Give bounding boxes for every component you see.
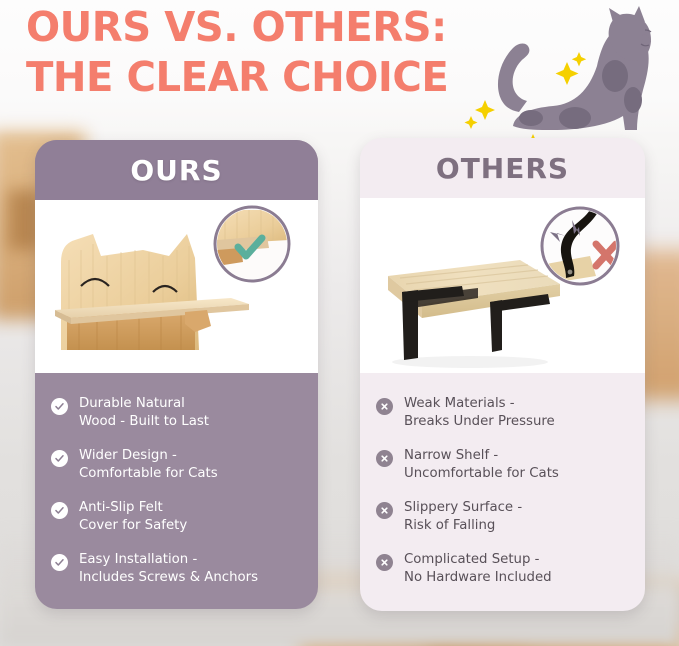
card-others-photo (360, 198, 645, 373)
list-item-text: Easy Installation - Includes Screws & An… (79, 551, 258, 586)
cross-circle-icon (376, 398, 393, 415)
list-item-text: Narrow Shelf - Uncomfortable for Cats (404, 447, 559, 482)
list-item: Narrow Shelf - Uncomfortable for Cats (376, 447, 631, 482)
check-circle-icon (51, 398, 68, 415)
card-ours-photo (35, 200, 318, 373)
list-item-text: Slippery Surface - Risk of Falling (404, 499, 522, 534)
plain-shelf-illustration (360, 198, 645, 373)
list-item: Anti-Slip Felt Cover for Safety (51, 499, 304, 534)
cross-circle-icon (376, 554, 393, 571)
card-ours: OURS (35, 140, 318, 609)
cat-face-wooden-shelf-illustration (35, 200, 318, 373)
list-item-text: Durable Natural Wood - Built to Last (79, 395, 209, 430)
card-others-title: OTHERS (436, 152, 569, 185)
list-item: Complicated Setup - No Hardware Included (376, 551, 631, 586)
card-others: OTHERS (360, 138, 645, 611)
cross-circle-icon (376, 502, 393, 519)
list-item-text: Anti-Slip Felt Cover for Safety (79, 499, 187, 534)
check-circle-icon (51, 450, 68, 467)
list-item: Easy Installation - Includes Screws & An… (51, 551, 304, 586)
list-item: Weak Materials - Breaks Under Pressure (376, 395, 631, 430)
detail-zoom-inset (215, 207, 289, 281)
detail-zoom-inset (542, 208, 618, 284)
list-item: Slippery Surface - Risk of Falling (376, 499, 631, 534)
list-item: Durable Natural Wood - Built to Last (51, 395, 304, 430)
card-others-header: OTHERS (360, 138, 645, 198)
card-ours-title: OURS (130, 154, 222, 187)
list-item-text: Weak Materials - Breaks Under Pressure (404, 395, 555, 430)
check-circle-icon (51, 502, 68, 519)
check-circle-icon (51, 554, 68, 571)
card-ours-header: OURS (35, 140, 318, 200)
list-item-text: Complicated Setup - No Hardware Included (404, 551, 552, 586)
list-item-text: Wider Design - Comfortable for Cats (79, 447, 218, 482)
list-item: Wider Design - Comfortable for Cats (51, 447, 304, 482)
card-others-drawback-list: Weak Materials - Breaks Under Pressure N… (360, 373, 645, 586)
comparison-cards: OURS (0, 0, 679, 646)
cross-circle-icon (376, 450, 393, 467)
card-ours-benefit-list: Durable Natural Wood - Built to Last Wid… (35, 373, 318, 586)
